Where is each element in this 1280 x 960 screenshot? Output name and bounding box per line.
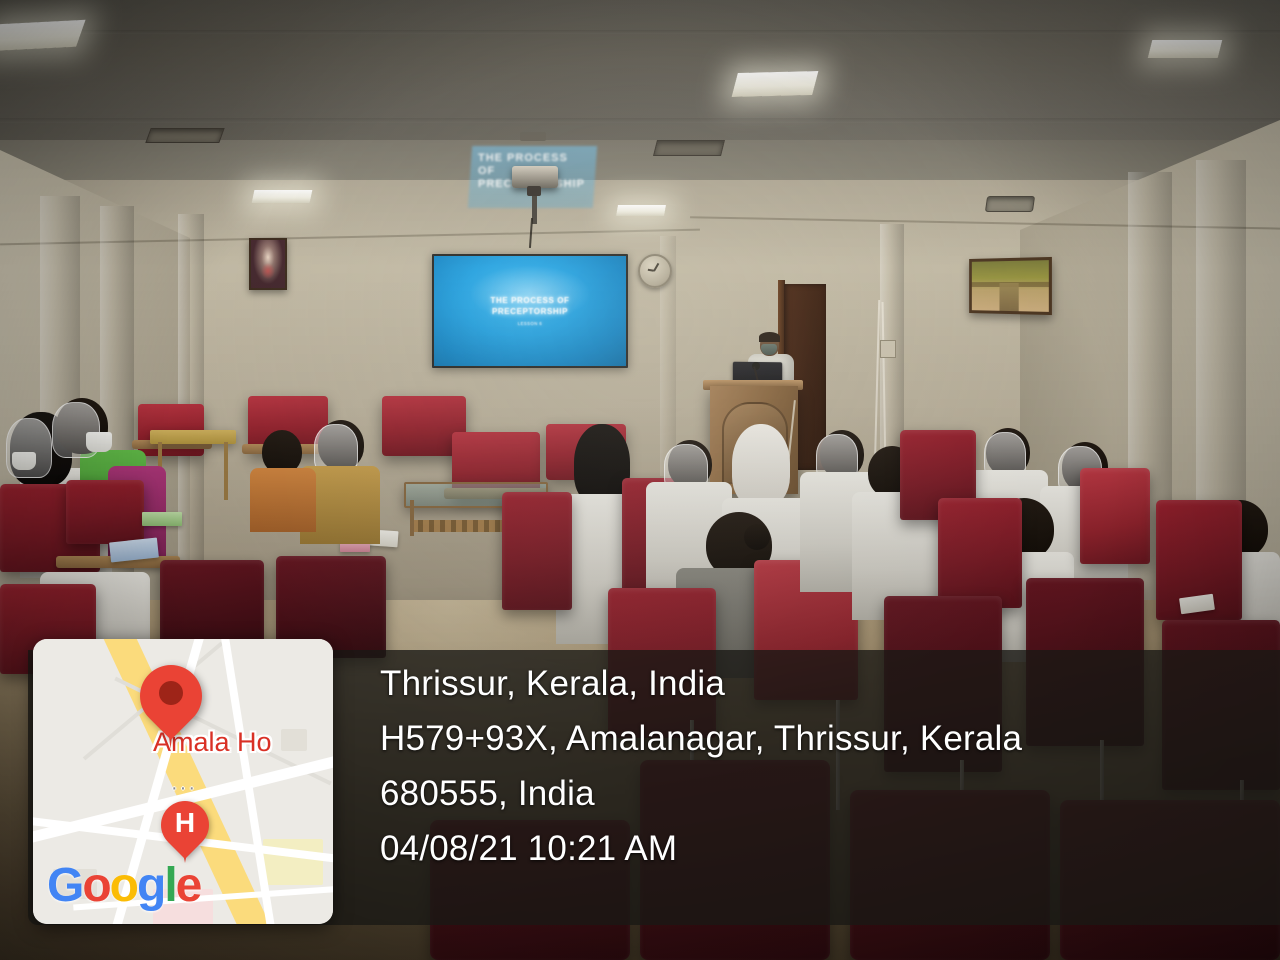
chair xyxy=(884,596,1002,772)
projector-lens xyxy=(527,186,541,196)
projector-ceiling-mount xyxy=(520,132,546,141)
attendee-body xyxy=(250,468,316,532)
framed-religious-portrait xyxy=(249,238,287,290)
face-mask xyxy=(12,452,36,470)
wall-switch-plate xyxy=(880,340,896,358)
notebook xyxy=(142,512,182,526)
chair xyxy=(1080,468,1150,564)
ceiling-light xyxy=(0,20,86,51)
attendee-veil xyxy=(732,424,790,506)
chair xyxy=(502,492,572,610)
chair-armrest xyxy=(150,654,280,667)
chair xyxy=(276,556,386,658)
ceiling-light xyxy=(616,205,666,216)
slide-subtitle: LESSON 6 xyxy=(518,321,542,326)
chair xyxy=(160,560,264,660)
seminar-hall-scene: THE PROCESS OF PRECEPTORSHIP THE PROCESS… xyxy=(0,0,1280,960)
ceiling-projector xyxy=(512,166,558,188)
ac-vent xyxy=(653,140,725,156)
landscape-artwork xyxy=(972,260,1049,312)
ceiling-beam xyxy=(0,30,1280,34)
ac-vent xyxy=(145,128,224,143)
wall-speaker xyxy=(985,196,1035,212)
ceiling-light xyxy=(1148,40,1222,58)
chair xyxy=(1026,578,1144,746)
chair xyxy=(608,588,716,738)
chair xyxy=(1162,620,1280,790)
chair xyxy=(0,584,96,674)
framed-landscape-painting xyxy=(969,257,1052,315)
chair xyxy=(430,820,630,960)
speaker-hair xyxy=(759,332,780,342)
chair-leg xyxy=(836,700,840,810)
chair xyxy=(640,760,830,960)
chair xyxy=(850,790,1050,960)
chair xyxy=(1060,800,1280,960)
chair xyxy=(66,480,144,544)
hair-bun xyxy=(744,524,770,550)
ceiling-beam xyxy=(0,118,1280,123)
wall-clock xyxy=(638,254,672,288)
face-mask xyxy=(86,432,112,452)
projected-slide: THE PROCESS OF PRECEPTORSHIP LESSON 6 xyxy=(434,256,626,366)
table-leg xyxy=(224,442,228,500)
projection-screen: THE PROCESS OF PRECEPTORSHIP LESSON 6 xyxy=(432,254,628,368)
table-leg xyxy=(410,500,414,536)
slide-title: THE PROCESS OF PRECEPTORSHIP xyxy=(470,296,590,318)
photo-canvas: THE PROCESS OF PRECEPTORSHIP THE PROCESS… xyxy=(0,0,1280,960)
ceiling-light xyxy=(732,71,819,97)
portrait-artwork xyxy=(251,240,285,288)
chair xyxy=(938,498,1022,608)
ceiling-light xyxy=(252,190,313,203)
